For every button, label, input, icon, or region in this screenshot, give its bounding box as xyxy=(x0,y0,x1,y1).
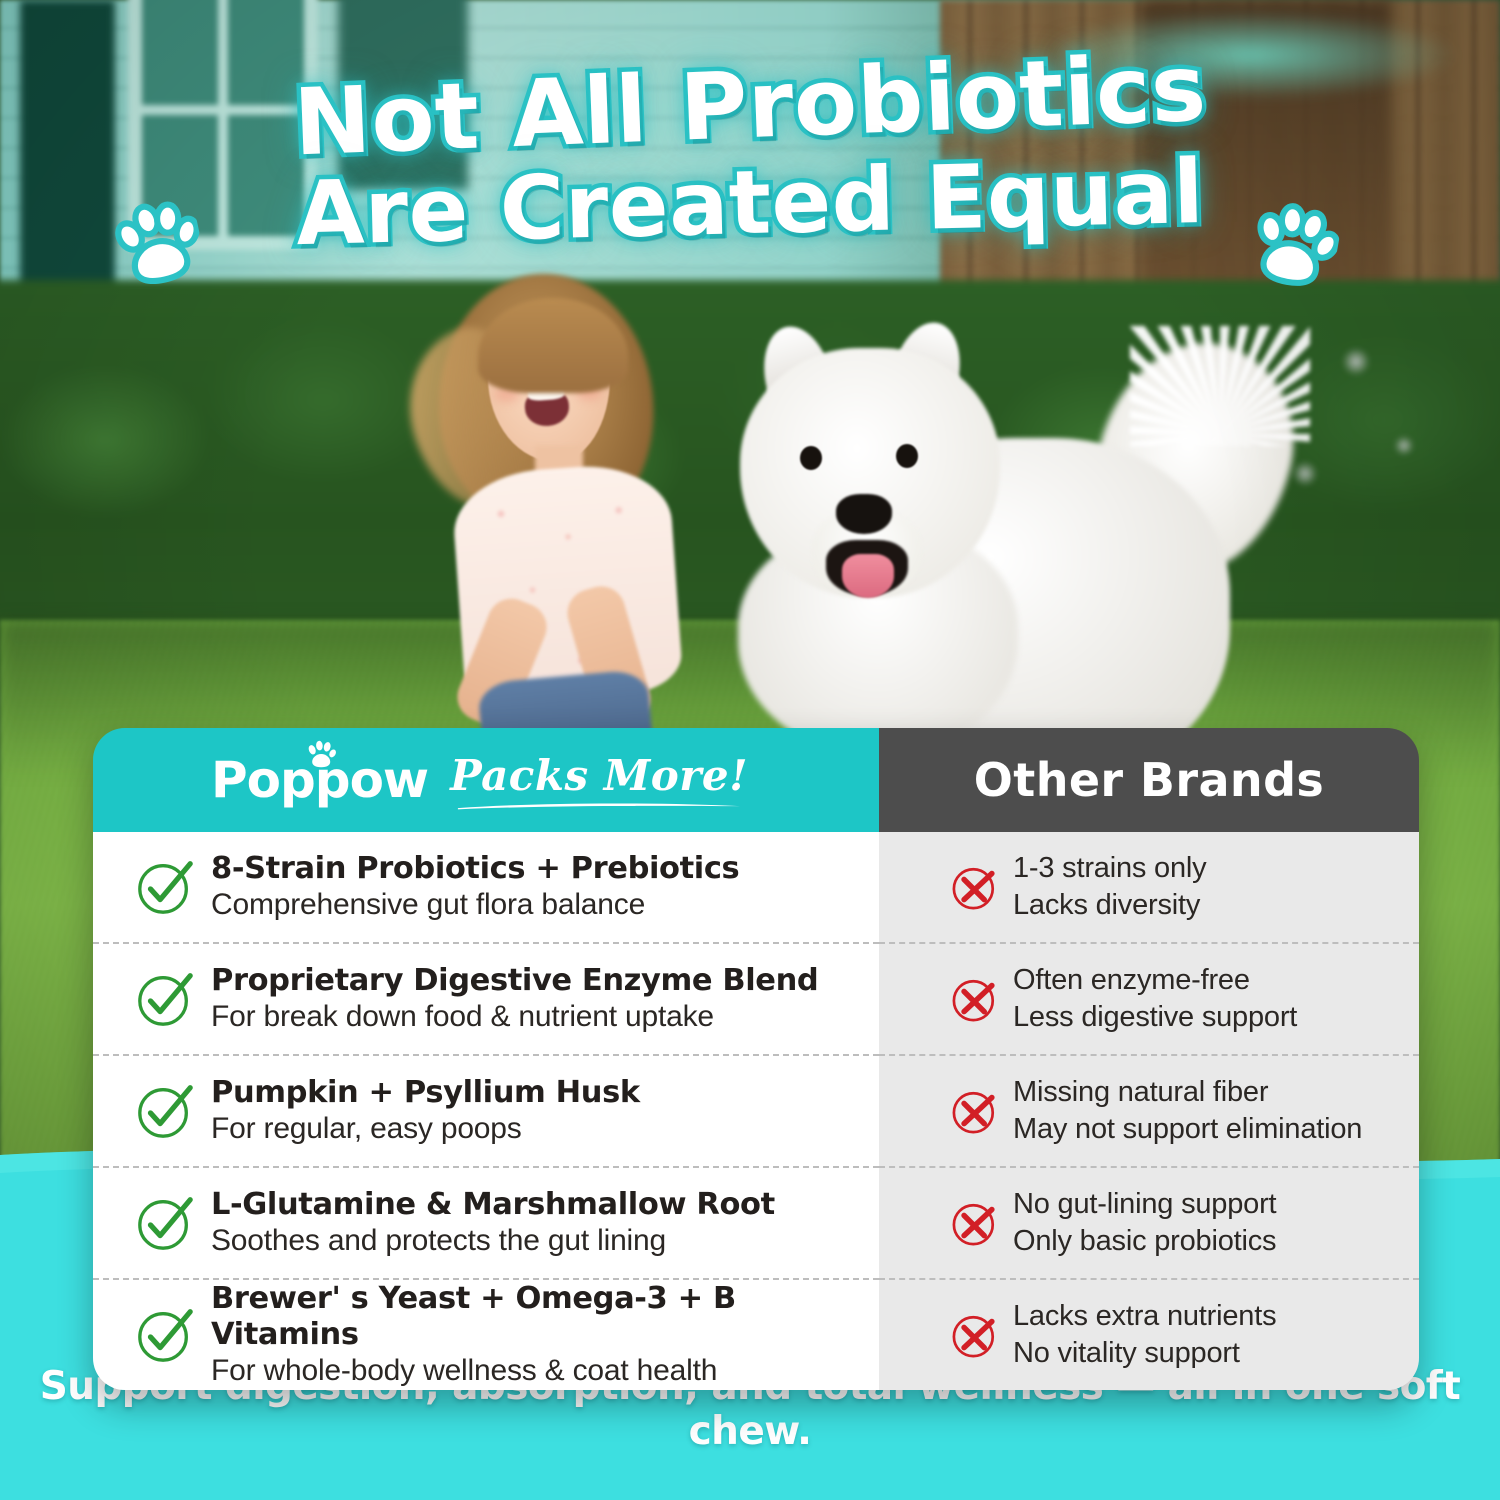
circle-x-icon xyxy=(948,1196,1002,1250)
circle-check-icon xyxy=(134,1080,196,1142)
circle-x-icon xyxy=(948,972,1002,1026)
feature-title: Pumpkin + Psyllium Husk xyxy=(211,1075,640,1111)
poppow-logo: Poppow xyxy=(211,751,428,809)
feature-title: 8-Strain Probiotics + Prebiotics xyxy=(211,851,739,887)
feature-text: Pumpkin + Psyllium Husk For regular, eas… xyxy=(211,1075,640,1147)
other-line-2: Only basic probiotics xyxy=(1013,1223,1276,1260)
other-line-1: Lacks extra nutrients xyxy=(1013,1298,1276,1335)
table-row: Missing natural fiber May not support el… xyxy=(879,1056,1419,1168)
table-row: L-Glutamine & Marshmallow Root Soothes a… xyxy=(93,1168,879,1280)
other-line-2: May not support elimination xyxy=(1013,1111,1362,1148)
circle-check-icon xyxy=(134,1304,196,1366)
table-row: No gut-lining support Only basic probiot… xyxy=(879,1168,1419,1280)
x-cell xyxy=(937,860,1013,914)
other-line-1: Often enzyme-free xyxy=(1013,962,1297,999)
check-cell xyxy=(119,1080,211,1142)
feature-subtitle: For regular, easy poops xyxy=(211,1111,640,1147)
feature-title: Brewer' s Yeast + Omega-3 + B Vitamins xyxy=(211,1281,879,1353)
paw-print-icon xyxy=(104,188,208,292)
underline-swash xyxy=(456,801,742,810)
feature-subtitle: Comprehensive gut flora balance xyxy=(211,887,739,923)
other-brand-text: 1-3 strains only Lacks diversity xyxy=(1013,850,1206,924)
infographic-poster: Not All Probiotics Are Created Equal Sup… xyxy=(0,0,1500,1500)
poppow-header: Poppow Packs More! xyxy=(93,728,879,832)
check-cell xyxy=(119,1192,211,1254)
packs-more-tagline: Packs More! xyxy=(450,751,748,810)
feature-subtitle: Soothes and protects the gut lining xyxy=(211,1223,775,1259)
feature-subtitle: For break down food & nutrient uptake xyxy=(211,999,818,1035)
circle-x-icon xyxy=(948,1308,1002,1362)
table-row: Often enzyme-free Less digestive support xyxy=(879,944,1419,1056)
check-cell xyxy=(119,968,211,1030)
comparison-card-body: 8-Strain Probiotics + Prebiotics Compreh… xyxy=(93,832,1419,1390)
other-brands-header: Other Brands xyxy=(879,728,1419,832)
feature-title: Proprietary Digestive Enzyme Blend xyxy=(211,963,818,999)
other-brand-text: Missing natural fiber May not support el… xyxy=(1013,1074,1362,1148)
other-line-1: 1-3 strains only xyxy=(1013,850,1206,887)
other-line-1: No gut-lining support xyxy=(1013,1186,1276,1223)
poppow-wordmark: Poppow xyxy=(211,751,428,809)
table-row: 8-Strain Probiotics + Prebiotics Compreh… xyxy=(93,832,879,944)
feature-title: L-Glutamine & Marshmallow Root xyxy=(211,1187,775,1223)
other-brand-text: No gut-lining support Only basic probiot… xyxy=(1013,1186,1276,1260)
comparison-card-header: Poppow Packs More! xyxy=(93,728,1419,832)
other-line-2: No vitality support xyxy=(1013,1335,1276,1372)
table-row: 1-3 strains only Lacks diversity xyxy=(879,832,1419,944)
table-row: Brewer' s Yeast + Omega-3 + B Vitamins F… xyxy=(93,1280,879,1390)
comparison-card: Poppow Packs More! xyxy=(93,728,1419,1390)
feature-text: Proprietary Digestive Enzyme Blend For b… xyxy=(211,963,818,1035)
packs-more-text: Packs More! xyxy=(450,751,748,800)
check-cell xyxy=(119,1304,211,1366)
table-row: Proprietary Digestive Enzyme Blend For b… xyxy=(93,944,879,1056)
feature-text: L-Glutamine & Marshmallow Root Soothes a… xyxy=(211,1187,775,1259)
other-brand-text: Often enzyme-free Less digestive support xyxy=(1013,962,1297,1036)
table-row: Lacks extra nutrients No vitality suppor… xyxy=(879,1280,1419,1390)
circle-x-icon xyxy=(948,860,1002,914)
other-brand-text: Lacks extra nutrients No vitality suppor… xyxy=(1013,1298,1276,1372)
circle-check-icon xyxy=(134,1192,196,1254)
feature-text: 8-Strain Probiotics + Prebiotics Compreh… xyxy=(211,851,739,923)
paw-print-icon xyxy=(1243,191,1345,293)
other-line-2: Less digestive support xyxy=(1013,999,1297,1036)
x-cell xyxy=(937,1084,1013,1138)
other-line-2: Lacks diversity xyxy=(1013,887,1206,924)
circle-x-icon xyxy=(948,1084,1002,1138)
table-row: Pumpkin + Psyllium Husk For regular, eas… xyxy=(93,1056,879,1168)
poppow-column: 8-Strain Probiotics + Prebiotics Compreh… xyxy=(93,832,879,1390)
check-cell xyxy=(119,856,211,918)
feature-subtitle: For whole-body wellness & coat health xyxy=(211,1353,879,1389)
other-line-1: Missing natural fiber xyxy=(1013,1074,1362,1111)
x-cell xyxy=(937,1308,1013,1362)
other-brands-column: 1-3 strains only Lacks diversity Often e… xyxy=(879,832,1419,1390)
circle-check-icon xyxy=(134,968,196,1030)
x-cell xyxy=(937,1196,1013,1250)
feature-text: Brewer' s Yeast + Omega-3 + B Vitamins F… xyxy=(211,1281,879,1389)
other-brands-title: Other Brands xyxy=(974,753,1324,807)
x-cell xyxy=(937,972,1013,1026)
circle-check-icon xyxy=(134,856,196,918)
